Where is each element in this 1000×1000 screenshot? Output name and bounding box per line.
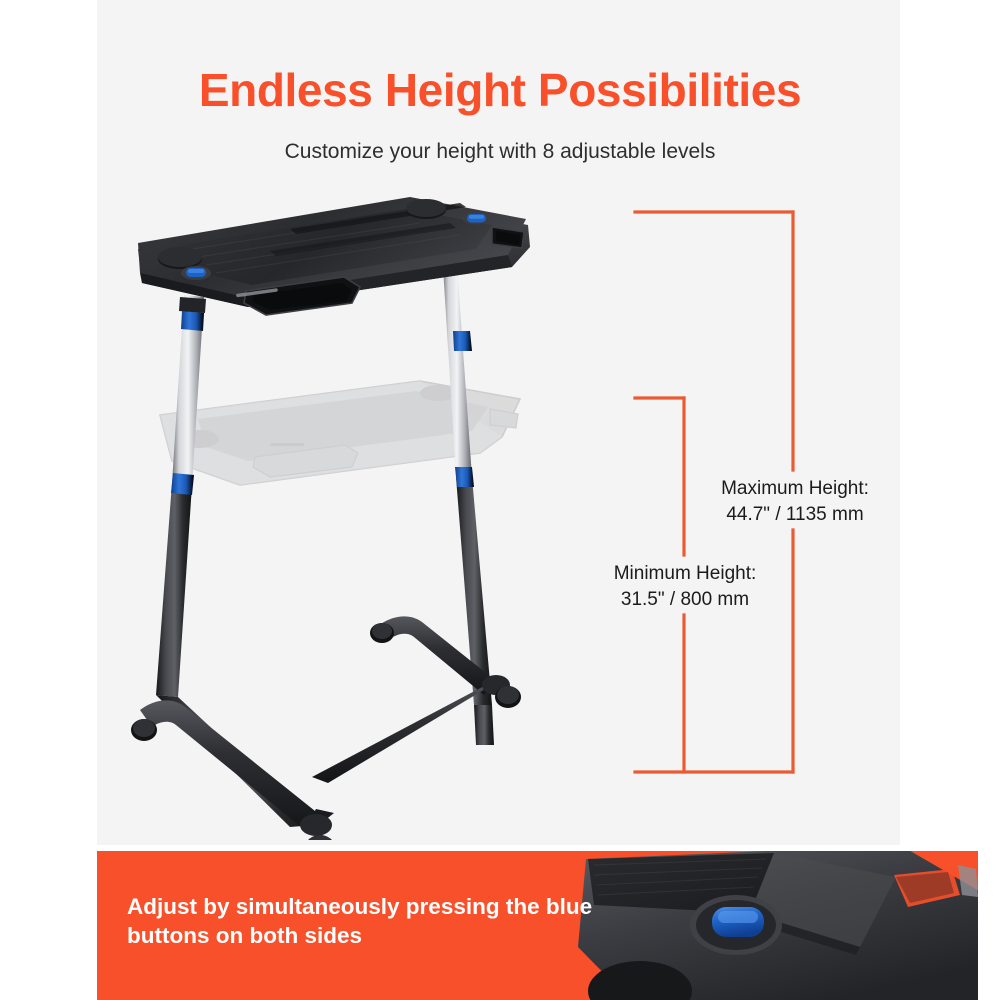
maximum-height-label: Maximum Height: 44.7" / 1135 mm	[700, 476, 890, 528]
dimension-brackets	[0, 0, 1000, 845]
instruction-banner: Adjust by simultaneously pressing the bl…	[97, 851, 1000, 1000]
minimum-height-value: 31.5" / 800 mm	[590, 587, 780, 613]
minimum-height-label: Minimum Height: 31.5" / 800 mm	[590, 561, 780, 613]
banner-right-white-edge	[978, 851, 1000, 1000]
maximum-height-value: 44.7" / 1135 mm	[700, 502, 890, 528]
infographic-page: Endless Height Possibilities Customize y…	[0, 0, 1000, 1000]
instruction-text: Adjust by simultaneously pressing the bl…	[127, 893, 597, 951]
blue-button-closeup-photo	[560, 851, 1000, 1000]
minimum-height-title: Minimum Height:	[590, 561, 780, 587]
maximum-height-title: Maximum Height:	[700, 476, 890, 502]
